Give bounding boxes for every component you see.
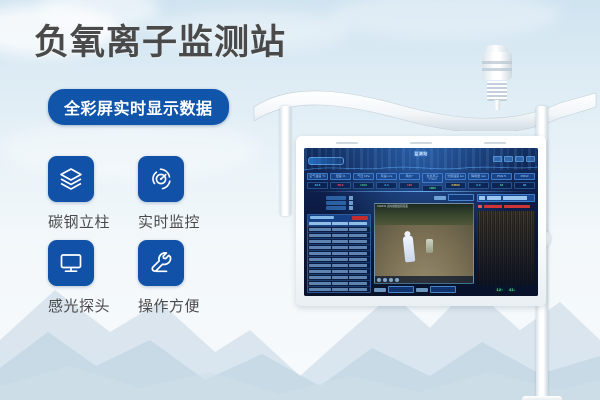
kpi-value: 135 [399, 182, 420, 189]
promo-banner: 监测站 空气温度 ℃ 23.6 [0, 0, 600, 400]
summary-row [326, 206, 353, 210]
summary-stats [307, 194, 371, 210]
table-alert-badge [352, 216, 368, 220]
data-table[interactable] [307, 214, 371, 293]
video-bottom-controls[interactable] [374, 286, 474, 293]
play-icon[interactable] [377, 278, 381, 282]
support-post-left [280, 106, 291, 216]
alarm-table-header [477, 194, 535, 202]
feature-item-easy-operation[interactable]: 操作方便 [138, 240, 228, 324]
video-top-controls[interactable] [374, 194, 474, 201]
dashboard-body: CAM 01 实时视频监控画面 [307, 194, 535, 293]
live-video-feed[interactable]: CAM 01 实时视频监控画面 [374, 203, 474, 284]
kpi-card[interactable]: 风速 m/s 2.4 [376, 173, 397, 192]
kpi-card[interactable]: 空气温度 ℃ 23.6 [307, 173, 328, 192]
section-divider [307, 191, 535, 192]
kpi-card[interactable]: 负氧离子 个/cm³ 1860 [422, 173, 443, 192]
kpi-value: 24500 [445, 182, 466, 189]
summary-row [326, 201, 353, 205]
pause-icon[interactable] [383, 278, 387, 282]
wrench-icon [138, 240, 184, 286]
clock-minutes: 41: [509, 287, 516, 292]
kpi-card[interactable]: PM2.5 18 [491, 173, 512, 192]
alarm-panel: 12: 41: [477, 194, 535, 293]
control-select[interactable] [448, 194, 474, 201]
video-osd-text: CAM 01 实时视频监控画面 [377, 205, 408, 209]
alarm-row[interactable] [477, 204, 535, 210]
table-title [310, 216, 334, 219]
feature-grid: 碳钢立柱 实时监控 [48, 156, 228, 324]
kpi-card[interactable]: 湿度 % 56.2 [330, 173, 351, 192]
feature-item-steel-post[interactable]: 碳钢立柱 [48, 156, 138, 240]
kpi-label: 空气温度 ℃ [307, 173, 328, 180]
vent-slot [484, 142, 506, 144]
control-label [434, 196, 446, 200]
sensor-body [482, 52, 512, 80]
kpi-label: PM2.5 [491, 173, 512, 180]
post-base [522, 396, 562, 400]
data-list-panel [307, 194, 371, 293]
kpi-label: 湿度 % [330, 173, 351, 180]
control-select[interactable] [388, 286, 414, 293]
video-playback-bar[interactable] [375, 276, 473, 283]
toolbar-chip[interactable] [493, 156, 502, 162]
feature-item-light-sensor[interactable]: 感光探头 [48, 240, 138, 324]
kpi-value: 18 [491, 182, 512, 189]
table-row[interactable] [308, 286, 370, 292]
kpi-value: 0.0 [468, 182, 489, 189]
monitoring-station: 监测站 空气温度 ℃ 23.6 [250, 40, 600, 400]
kpi-value: 2.4 [376, 182, 397, 189]
radar-monitor-icon [138, 156, 184, 202]
alarm-type [484, 205, 502, 209]
kpi-value: 32 [514, 182, 535, 189]
kpi-card[interactable]: 光照强度 lux 24500 [445, 173, 466, 192]
alarm-message [504, 205, 530, 209]
feature-item-realtime-monitor[interactable]: 实时监控 [138, 156, 228, 240]
led-display-screen: 监测站 空气温度 ℃ 23.6 [304, 148, 538, 296]
fullscreen-icon[interactable] [395, 278, 399, 282]
vent-slot [336, 142, 358, 144]
sensor-band [482, 68, 512, 71]
page-title: 负氧离子监测站 [34, 26, 286, 61]
toolbar-chip[interactable] [515, 156, 524, 162]
kpi-strip: 空气温度 ℃ 23.6 湿度 % 56.2 气压 hPa 1013 风速 m/s… [307, 173, 535, 192]
toolbar-chip[interactable] [504, 156, 513, 162]
kpi-card[interactable]: 气压 hPa 1013 [353, 173, 374, 192]
kpi-label: 气压 hPa [353, 173, 374, 180]
feature-label: 感光探头 [48, 295, 110, 316]
video-panel: CAM 01 实时视频监控画面 [374, 194, 474, 293]
control-select[interactable] [430, 286, 456, 293]
clock-hours: 12: [496, 287, 503, 292]
kpi-label: 降雨量 mm [468, 173, 489, 180]
dashboard-toolbar[interactable] [493, 156, 535, 162]
clock-readout: 12: 41: [477, 287, 535, 293]
kpi-card[interactable]: 降雨量 mm 0.0 [468, 173, 489, 192]
toolbar-chip[interactable] [526, 156, 535, 162]
video-object [426, 239, 433, 253]
summary-row [326, 196, 353, 200]
kpi-label: 光照强度 lux [445, 173, 466, 180]
kpi-value: 23.6 [307, 182, 328, 189]
sensor-band [482, 61, 512, 64]
kpi-card[interactable]: PM10 32 [514, 173, 535, 192]
kpi-label: PM10 [514, 173, 535, 180]
vent-slot [410, 142, 432, 144]
kpi-card[interactable]: 风向 ° 135 [399, 173, 420, 192]
layers-icon [48, 156, 94, 202]
kpi-label: 风速 m/s [376, 173, 397, 180]
video-ground [375, 225, 473, 283]
subtitle-badge: 全彩屏实时显示数据 [48, 89, 229, 125]
monitor-screen-icon [48, 240, 94, 286]
feature-label: 操作方便 [138, 295, 200, 316]
kpi-label: 负氧离子 个/cm³ [422, 173, 443, 183]
display-cabinet: 监测站 空气温度 ℃ 23.6 [296, 136, 546, 306]
kpi-value: 1013 [353, 182, 374, 189]
cloud-shape [330, 0, 560, 38]
feature-label: 碳钢立柱 [48, 211, 110, 232]
feature-label: 实时监控 [138, 211, 200, 232]
control-label [374, 288, 386, 292]
kpi-value: 56.2 [330, 182, 351, 189]
snapshot-icon[interactable] [389, 278, 393, 282]
kpi-label: 风向 ° [399, 173, 420, 180]
dashboard-wave-graphic [304, 164, 538, 172]
secondary-camera-feed[interactable] [477, 211, 535, 285]
control-label [416, 288, 428, 292]
alarm-status-dot [478, 205, 482, 208]
